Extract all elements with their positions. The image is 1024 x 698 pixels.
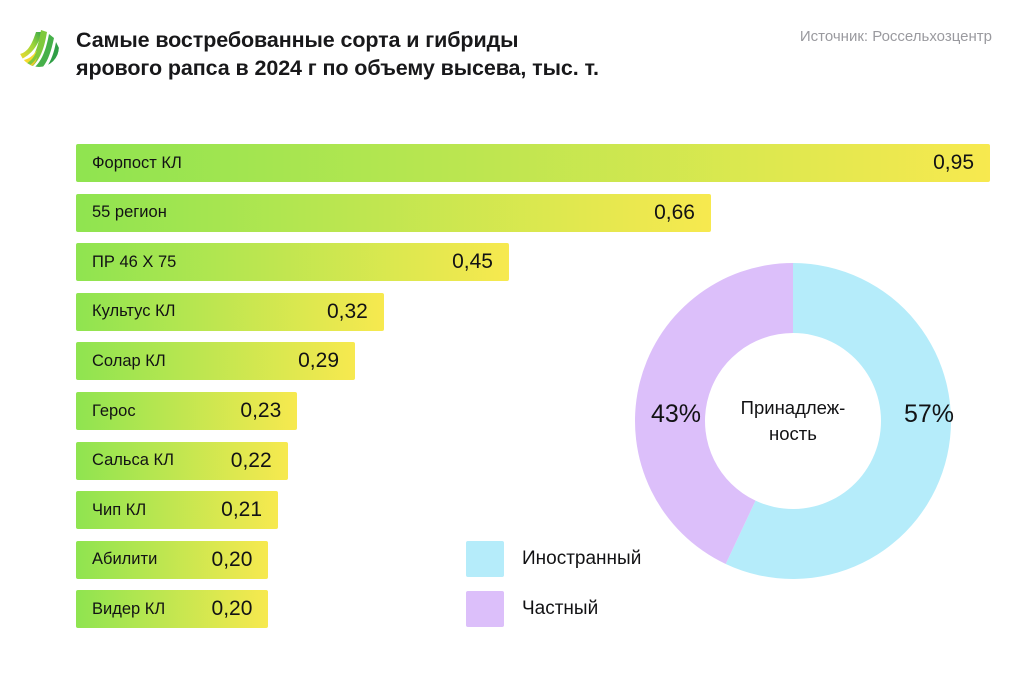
color-swatch-blue-icon	[466, 541, 504, 577]
bar-category-label: Сальса КЛ	[76, 451, 174, 470]
bar-category-label: Форпост КЛ	[76, 154, 182, 173]
donut-percent-foreign: 57%	[904, 400, 954, 429]
bar-row: Видер КЛ0,20	[76, 590, 268, 628]
bar-category-label: Видер КЛ	[76, 600, 165, 619]
bar-row: Солар КЛ0,29	[76, 342, 355, 380]
bar-category-label: Солар КЛ	[76, 352, 166, 371]
bar-row: Абилити0,20	[76, 541, 268, 579]
bar-value-label: 0,45	[452, 250, 509, 274]
legend-label: Частный	[522, 598, 598, 620]
bar-row: Чип КЛ0,21	[76, 491, 278, 529]
legend-item[interactable]: Иностранный	[466, 541, 641, 577]
bar: 55 регион0,66	[76, 194, 711, 232]
bar-category-label: Абилити	[76, 550, 157, 569]
bar: Культус КЛ0,32	[76, 293, 384, 331]
bar-row: Культус КЛ0,32	[76, 293, 384, 331]
bar: Форпост КЛ0,95	[76, 144, 990, 182]
donut-percent-private: 43%	[651, 400, 701, 429]
bar-value-label: 0,29	[298, 349, 355, 373]
legend-item[interactable]: Частный	[466, 591, 641, 627]
bar-value-label: 0,20	[212, 597, 269, 621]
bar-value-label: 0,21	[221, 498, 278, 522]
bar: Герос0,23	[76, 392, 297, 430]
bar-row: 55 регион0,66	[76, 194, 711, 232]
donut-legend: ИностранныйЧастный	[466, 541, 641, 641]
bar-row: ПР 46 Х 750,45	[76, 243, 509, 281]
color-swatch-purple-icon	[466, 591, 504, 627]
infographic-page: Самые востребованные сорта и гибриды яро…	[0, 0, 1024, 698]
bar-value-label: 0,22	[231, 449, 288, 473]
bar-category-label: Культус КЛ	[76, 302, 176, 321]
bar: Абилити0,20	[76, 541, 268, 579]
bar-row: Форпост КЛ0,95	[76, 144, 990, 182]
bar: Чип КЛ0,21	[76, 491, 278, 529]
bar: Видер КЛ0,20	[76, 590, 268, 628]
bar-category-label: Чип КЛ	[76, 501, 146, 520]
bar-category-label: 55 регион	[76, 203, 167, 222]
bar-value-label: 0,95	[933, 151, 990, 175]
bar-row: Герос0,23	[76, 392, 297, 430]
bar-row: Сальса КЛ0,22	[76, 442, 288, 480]
bar: ПР 46 Х 750,45	[76, 243, 509, 281]
bar: Солар КЛ0,29	[76, 342, 355, 380]
bar-value-label: 0,66	[654, 201, 711, 225]
bar-value-label: 0,23	[240, 399, 297, 423]
bar-category-label: ПР 46 Х 75	[76, 253, 176, 272]
bar-value-label: 0,32	[327, 300, 384, 324]
legend-label: Иностранный	[522, 548, 641, 570]
bar-category-label: Герос	[76, 402, 136, 421]
bar: Сальса КЛ0,22	[76, 442, 288, 480]
bar-value-label: 0,20	[212, 548, 269, 572]
